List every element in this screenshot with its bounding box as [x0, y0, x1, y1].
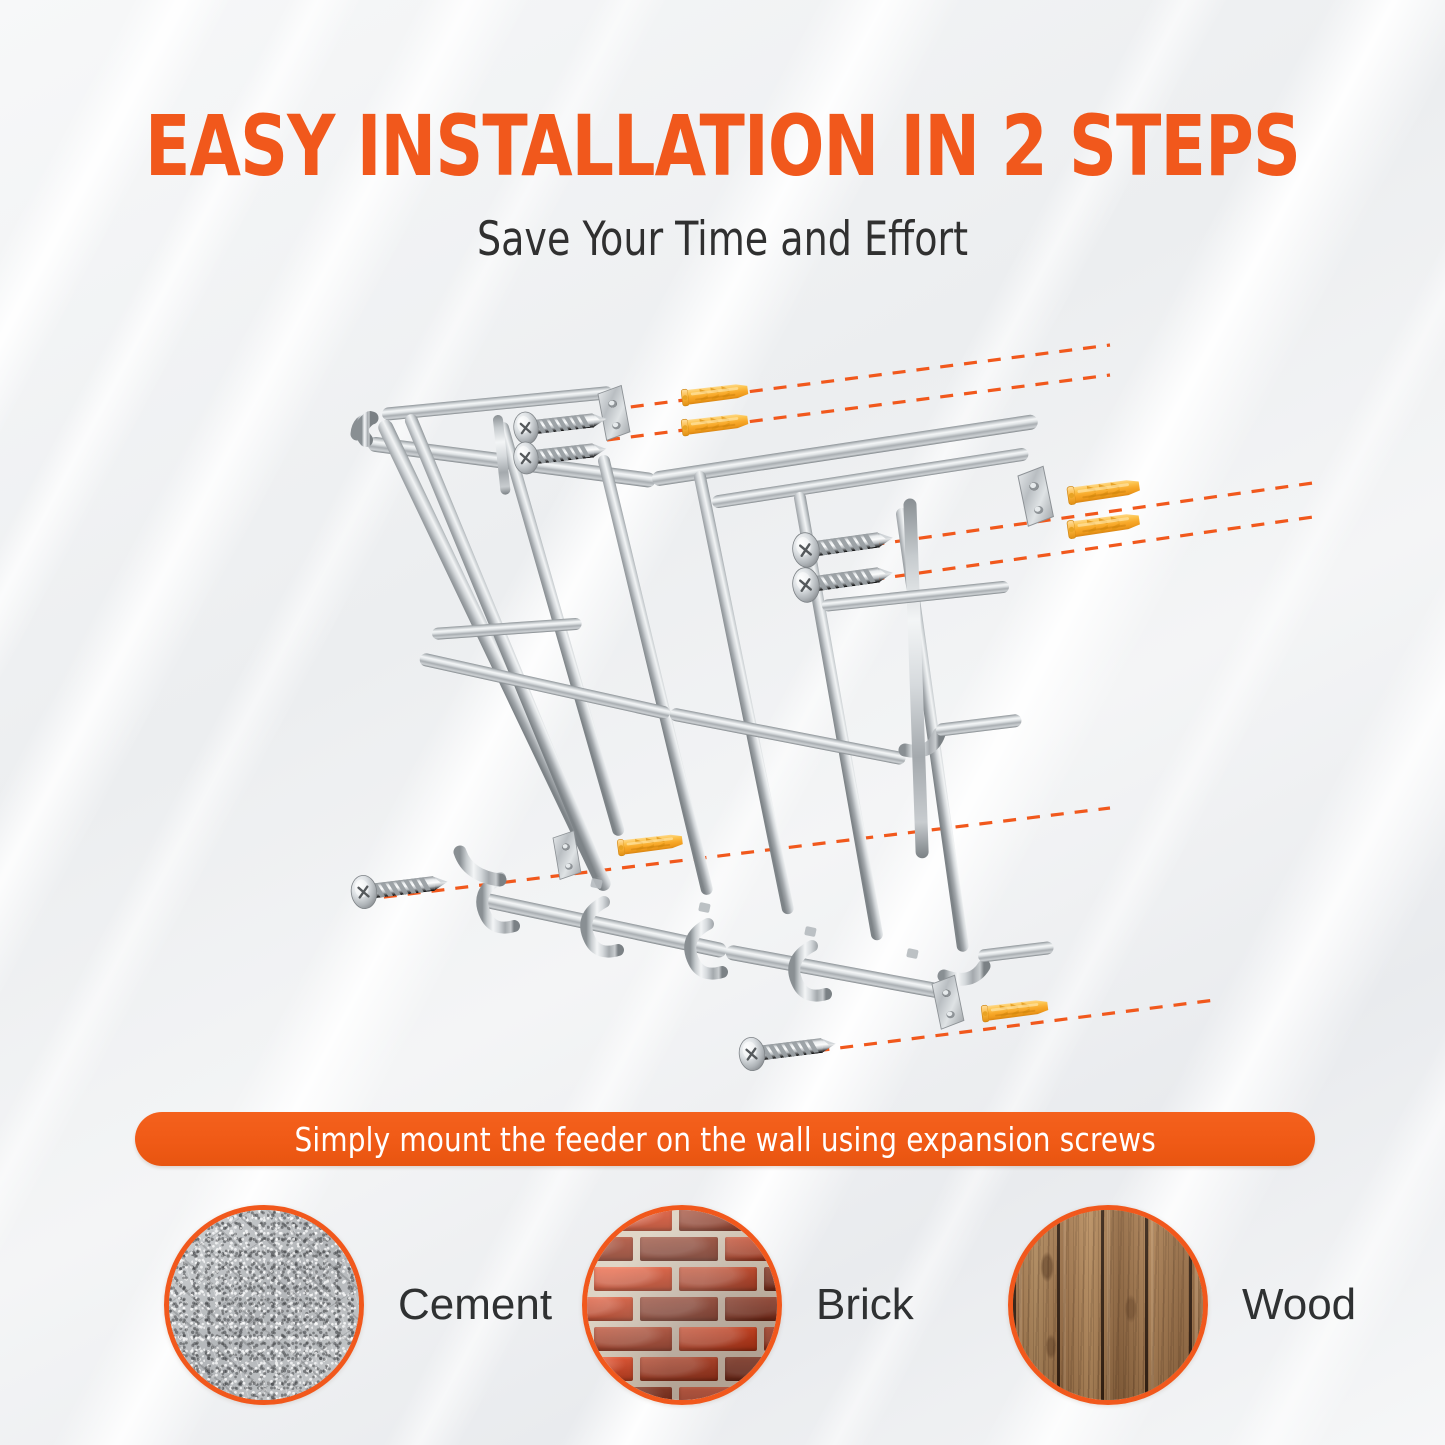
plastic-wall-anchor: [981, 998, 1049, 1023]
pan-head-screw: [349, 865, 449, 910]
wood-texture-icon: [1008, 1205, 1208, 1405]
material-label-wood: Wood: [1242, 1280, 1356, 1330]
plastic-wall-anchor: [1067, 511, 1141, 539]
pan-head-screw: [737, 1027, 837, 1072]
material-list: Cement Brick Wood: [0, 1190, 1445, 1420]
mounting-bracket-top-right: [1017, 466, 1054, 527]
material-item-cement: Cement: [164, 1190, 552, 1420]
material-item-wood: Wood: [1008, 1190, 1356, 1420]
material-label-brick: Brick: [816, 1280, 914, 1330]
instruction-banner: Simply mount the feeder on the wall usin…: [135, 1112, 1315, 1166]
infographic-canvas: EASY INSTALLATION IN 2 STEPS Save Your T…: [0, 0, 1445, 1445]
material-label-cement: Cement: [398, 1280, 552, 1330]
product-illustration: [0, 300, 1445, 1100]
plastic-wall-anchor: [681, 382, 749, 407]
steel-tube-frame: [357, 386, 1054, 1001]
cement-texture-icon: [164, 1205, 364, 1405]
mounting-bracket-top-left: [597, 385, 630, 441]
instruction-banner-text: Simply mount the feeder on the wall usin…: [294, 1120, 1156, 1159]
pan-head-screw: [512, 403, 608, 445]
brick-texture-icon: [582, 1205, 782, 1405]
page-subtitle: Save Your Time and Effort: [72, 214, 1373, 266]
material-item-brick: Brick: [582, 1190, 914, 1420]
plastic-wall-anchor: [1067, 477, 1141, 505]
plastic-wall-anchor: [617, 832, 683, 856]
page-title: EASY INSTALLATION IN 2 STEPS: [87, 104, 1359, 188]
plastic-wall-anchor: [681, 412, 749, 437]
